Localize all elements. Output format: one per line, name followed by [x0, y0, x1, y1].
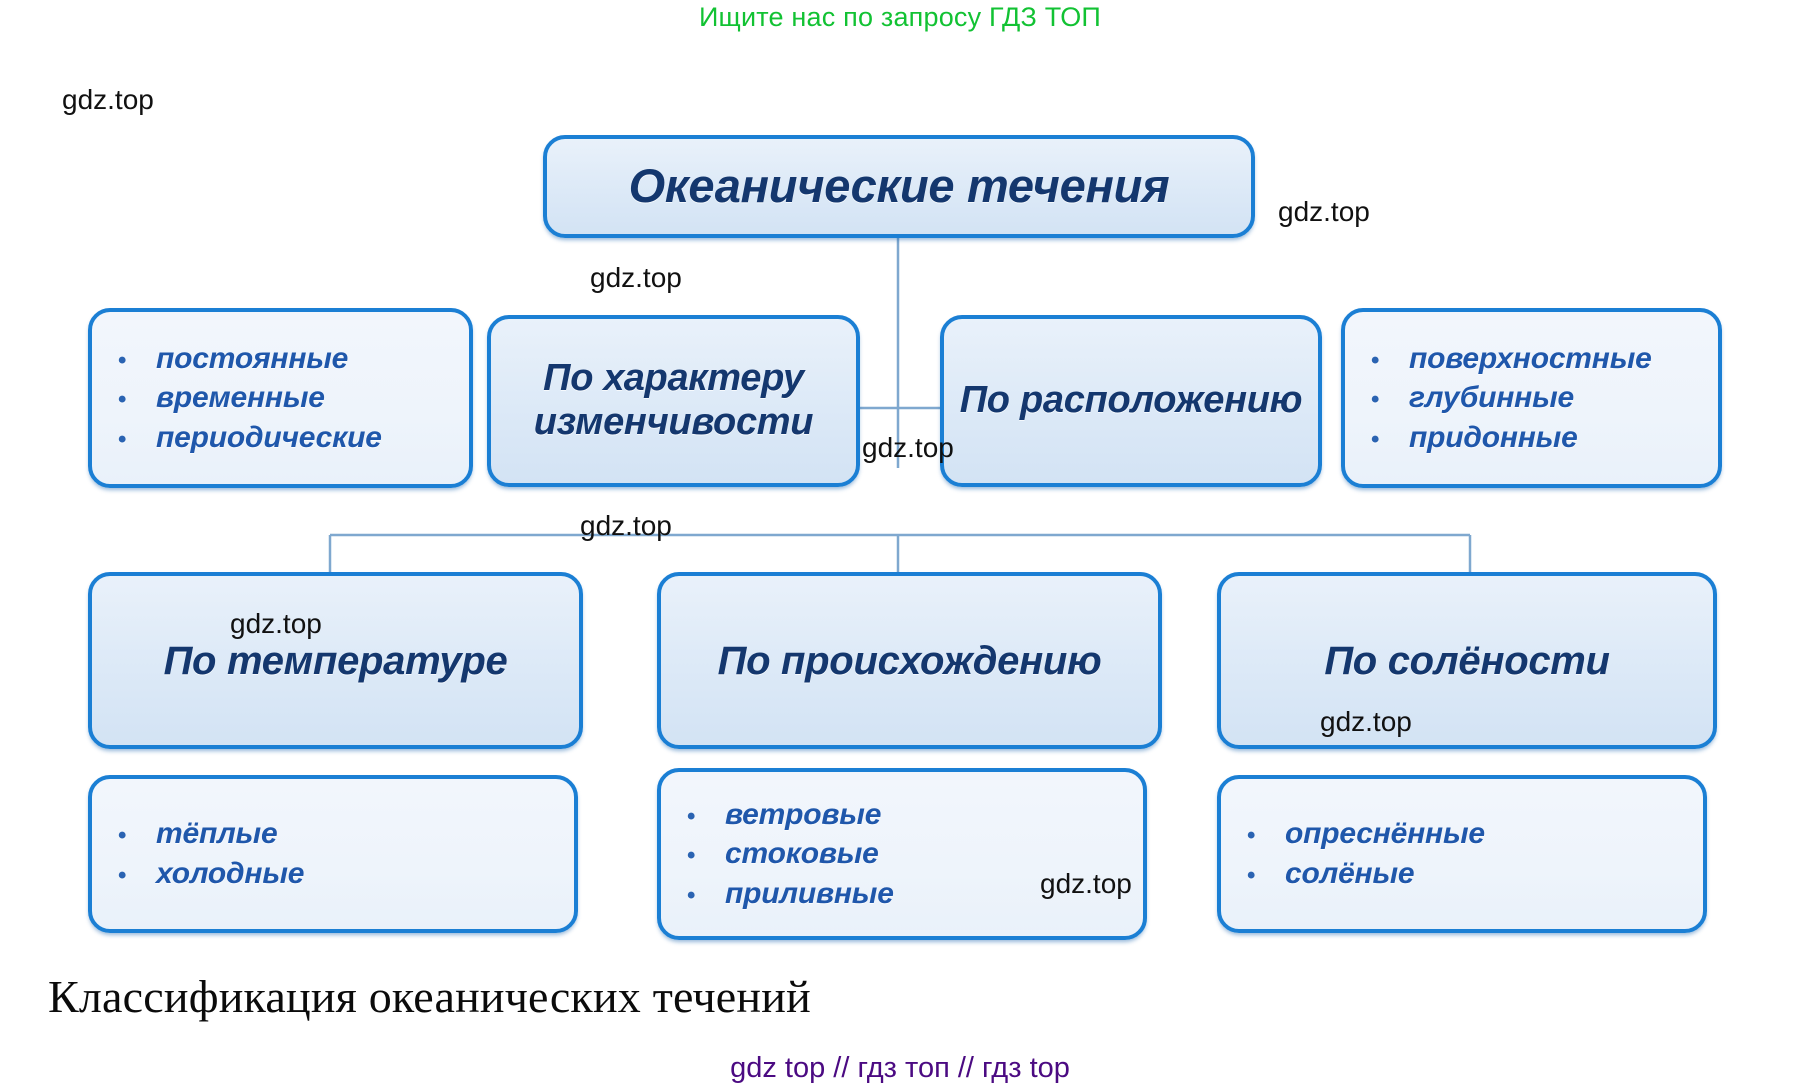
node-branch-variability-label: По характеру изменчивости — [491, 357, 856, 444]
list-item: • временные — [96, 378, 469, 418]
node-branch-origin-label: По происхождению — [708, 638, 1112, 684]
list-item: • периодические — [96, 418, 469, 458]
node-branch-location-label: По расположению — [950, 379, 1313, 423]
bullet-icon: • — [96, 860, 156, 892]
bullet-icon: • — [1349, 424, 1409, 456]
node-location-items[interactable]: • поверхностные • глубинные • придонные — [1341, 308, 1722, 488]
temperature-item-list: • тёплые • холодные — [92, 814, 574, 893]
classification-diagram: Океанические течения • постоянные • врем… — [0, 0, 1800, 1091]
list-item: • тёплые — [96, 814, 574, 854]
bullet-icon: • — [1225, 820, 1285, 852]
watermark-gdz-top: gdz.top — [230, 608, 322, 640]
bullet-icon: • — [1349, 384, 1409, 416]
list-item: • солёные — [1225, 854, 1703, 894]
variability-item-list: • постоянные • временные • периодические — [92, 339, 469, 458]
watermark-gdz-top: gdz.top — [1320, 706, 1412, 738]
bullet-icon: • — [96, 820, 156, 852]
bullet-icon: • — [665, 880, 725, 912]
list-item: • опреснённые — [1225, 814, 1703, 854]
node-branch-salinity[interactable]: По солёности — [1217, 572, 1717, 749]
node-branch-variability[interactable]: По характеру изменчивости — [487, 315, 860, 487]
node-branch-location[interactable]: По расположению — [940, 315, 1322, 487]
bullet-icon: • — [96, 345, 156, 377]
watermark-gdz-top: gdz.top — [580, 510, 672, 542]
salinity-item-list: • опреснённые • солёные — [1221, 814, 1703, 893]
node-branch-salinity-label: По солёности — [1314, 638, 1619, 684]
watermark-gdz-top: gdz.top — [62, 84, 154, 116]
bullet-icon: • — [665, 801, 725, 833]
promo-footer-text: gdz top // гдз топ // гдз top — [0, 1052, 1800, 1085]
node-branch-origin[interactable]: По происхождению — [657, 572, 1162, 749]
watermark-gdz-top: gdz.top — [590, 262, 682, 294]
node-root-oceanic-currents[interactable]: Океанические течения — [543, 135, 1255, 238]
watermark-gdz-top: gdz.top — [1040, 868, 1132, 900]
list-item: • холодные — [96, 854, 574, 894]
node-branch-temperature-label: По температуре — [154, 638, 518, 684]
list-item: • глубинные — [1349, 378, 1718, 418]
watermark-gdz-top: gdz.top — [862, 432, 954, 464]
page-title: Классификация океанических течений — [48, 970, 811, 1023]
bullet-icon: • — [1349, 345, 1409, 377]
list-item: • ветровые — [665, 795, 1143, 835]
node-origin-items[interactable]: • ветровые • стоковые • приливные — [657, 768, 1147, 940]
list-item: • поверхностные — [1349, 339, 1718, 379]
node-root-label: Океанические течения — [619, 159, 1180, 213]
location-item-list: • поверхностные • глубинные • придонные — [1345, 339, 1718, 458]
bullet-icon: • — [96, 424, 156, 456]
node-temperature-items[interactable]: • тёплые • холодные — [88, 775, 578, 933]
node-branch-temperature[interactable]: По температуре — [88, 572, 583, 749]
node-salinity-items[interactable]: • опреснённые • солёные — [1217, 775, 1707, 933]
bullet-icon: • — [665, 840, 725, 872]
list-item: • постоянные — [96, 339, 469, 379]
node-variability-items[interactable]: • постоянные • временные • периодические — [88, 308, 473, 488]
list-item: • придонные — [1349, 418, 1718, 458]
watermark-gdz-top: gdz.top — [1278, 196, 1370, 228]
bullet-icon: • — [1225, 860, 1285, 892]
bullet-icon: • — [96, 384, 156, 416]
